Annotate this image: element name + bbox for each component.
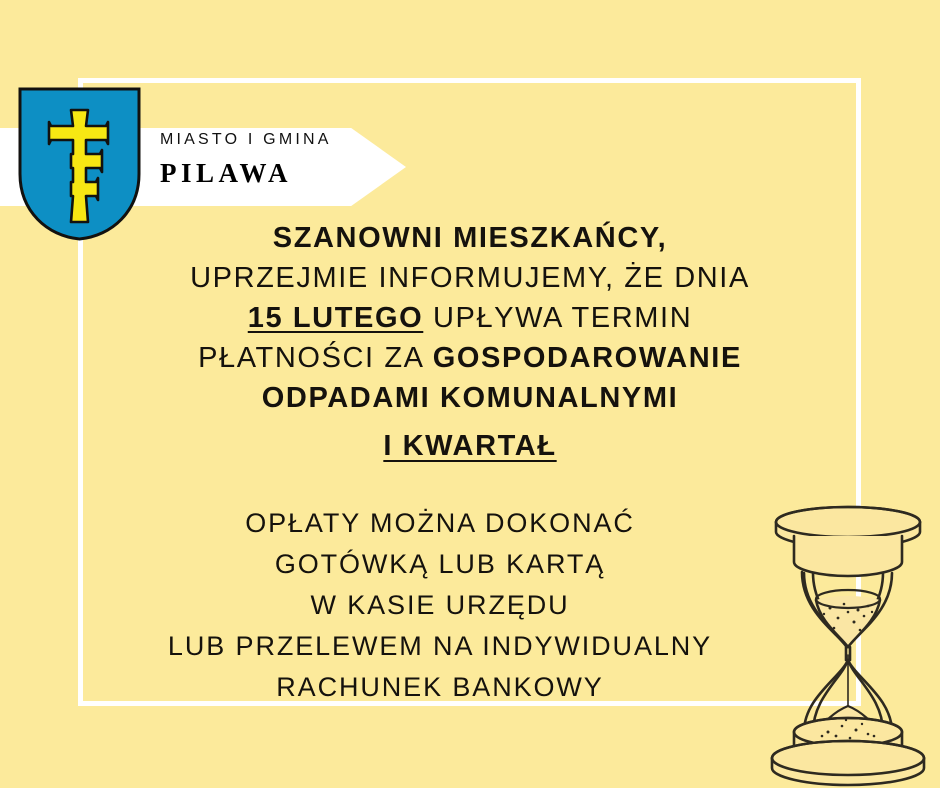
- payment-line-4: LUB PRZELEWEM NA INDYWIDUALNY: [70, 626, 810, 667]
- message-line-4: PŁATNOŚCI ZA GOSPODAROWANIE: [120, 338, 820, 378]
- message-line-5: ODPADAMI KOMUNALNYMI: [120, 378, 820, 418]
- message-line-4-prefix: PŁATNOŚCI ZA: [198, 342, 433, 374]
- banner-title: PILAWA: [160, 160, 390, 187]
- payment-line-2: GOTÓWKĄ LUB KARTĄ: [70, 544, 810, 585]
- poster-canvas: MIASTO I GMINA PILAWA SZANOWNI MIESZKAŃC…: [0, 0, 940, 788]
- announcement-message: SZANOWNI MIESZKAŃCY, UPRZEJMIE INFORMUJE…: [120, 218, 820, 418]
- banner-subtitle: MIASTO I GMINA: [160, 132, 390, 148]
- message-line-4-emphasis: GOSPODAROWANIE: [433, 342, 742, 374]
- message-line-2: UPRZEJMIE INFORMUJEMY, ŻE DNIA: [120, 258, 820, 298]
- message-line-3: 15 LUTEGO UPŁYWA TERMIN: [120, 298, 820, 338]
- message-line-1: SZANOWNI MIESZKAŃCY,: [120, 218, 820, 258]
- payment-line-5: RACHUNEK BANKOWY: [70, 667, 810, 708]
- payment-line-1: OPŁATY MOŻNA DOKONAĆ: [70, 503, 810, 544]
- quarter-block: I KWARTAŁ: [120, 430, 820, 463]
- due-date-emphasis: 15 LUTEGO: [248, 302, 424, 334]
- payment-instructions: OPŁATY MOŻNA DOKONAĆ GOTÓWKĄ LUB KARTĄ W…: [70, 503, 810, 708]
- payment-line-3: W KASIE URZĘDU: [70, 585, 810, 626]
- message-line-3-rest: UPŁYWA TERMIN: [423, 302, 692, 334]
- hourglass-icon: [758, 500, 938, 788]
- quarter-label: I KWARTAŁ: [383, 430, 556, 462]
- logo-banner-text: MIASTO I GMINA PILAWA: [160, 132, 390, 187]
